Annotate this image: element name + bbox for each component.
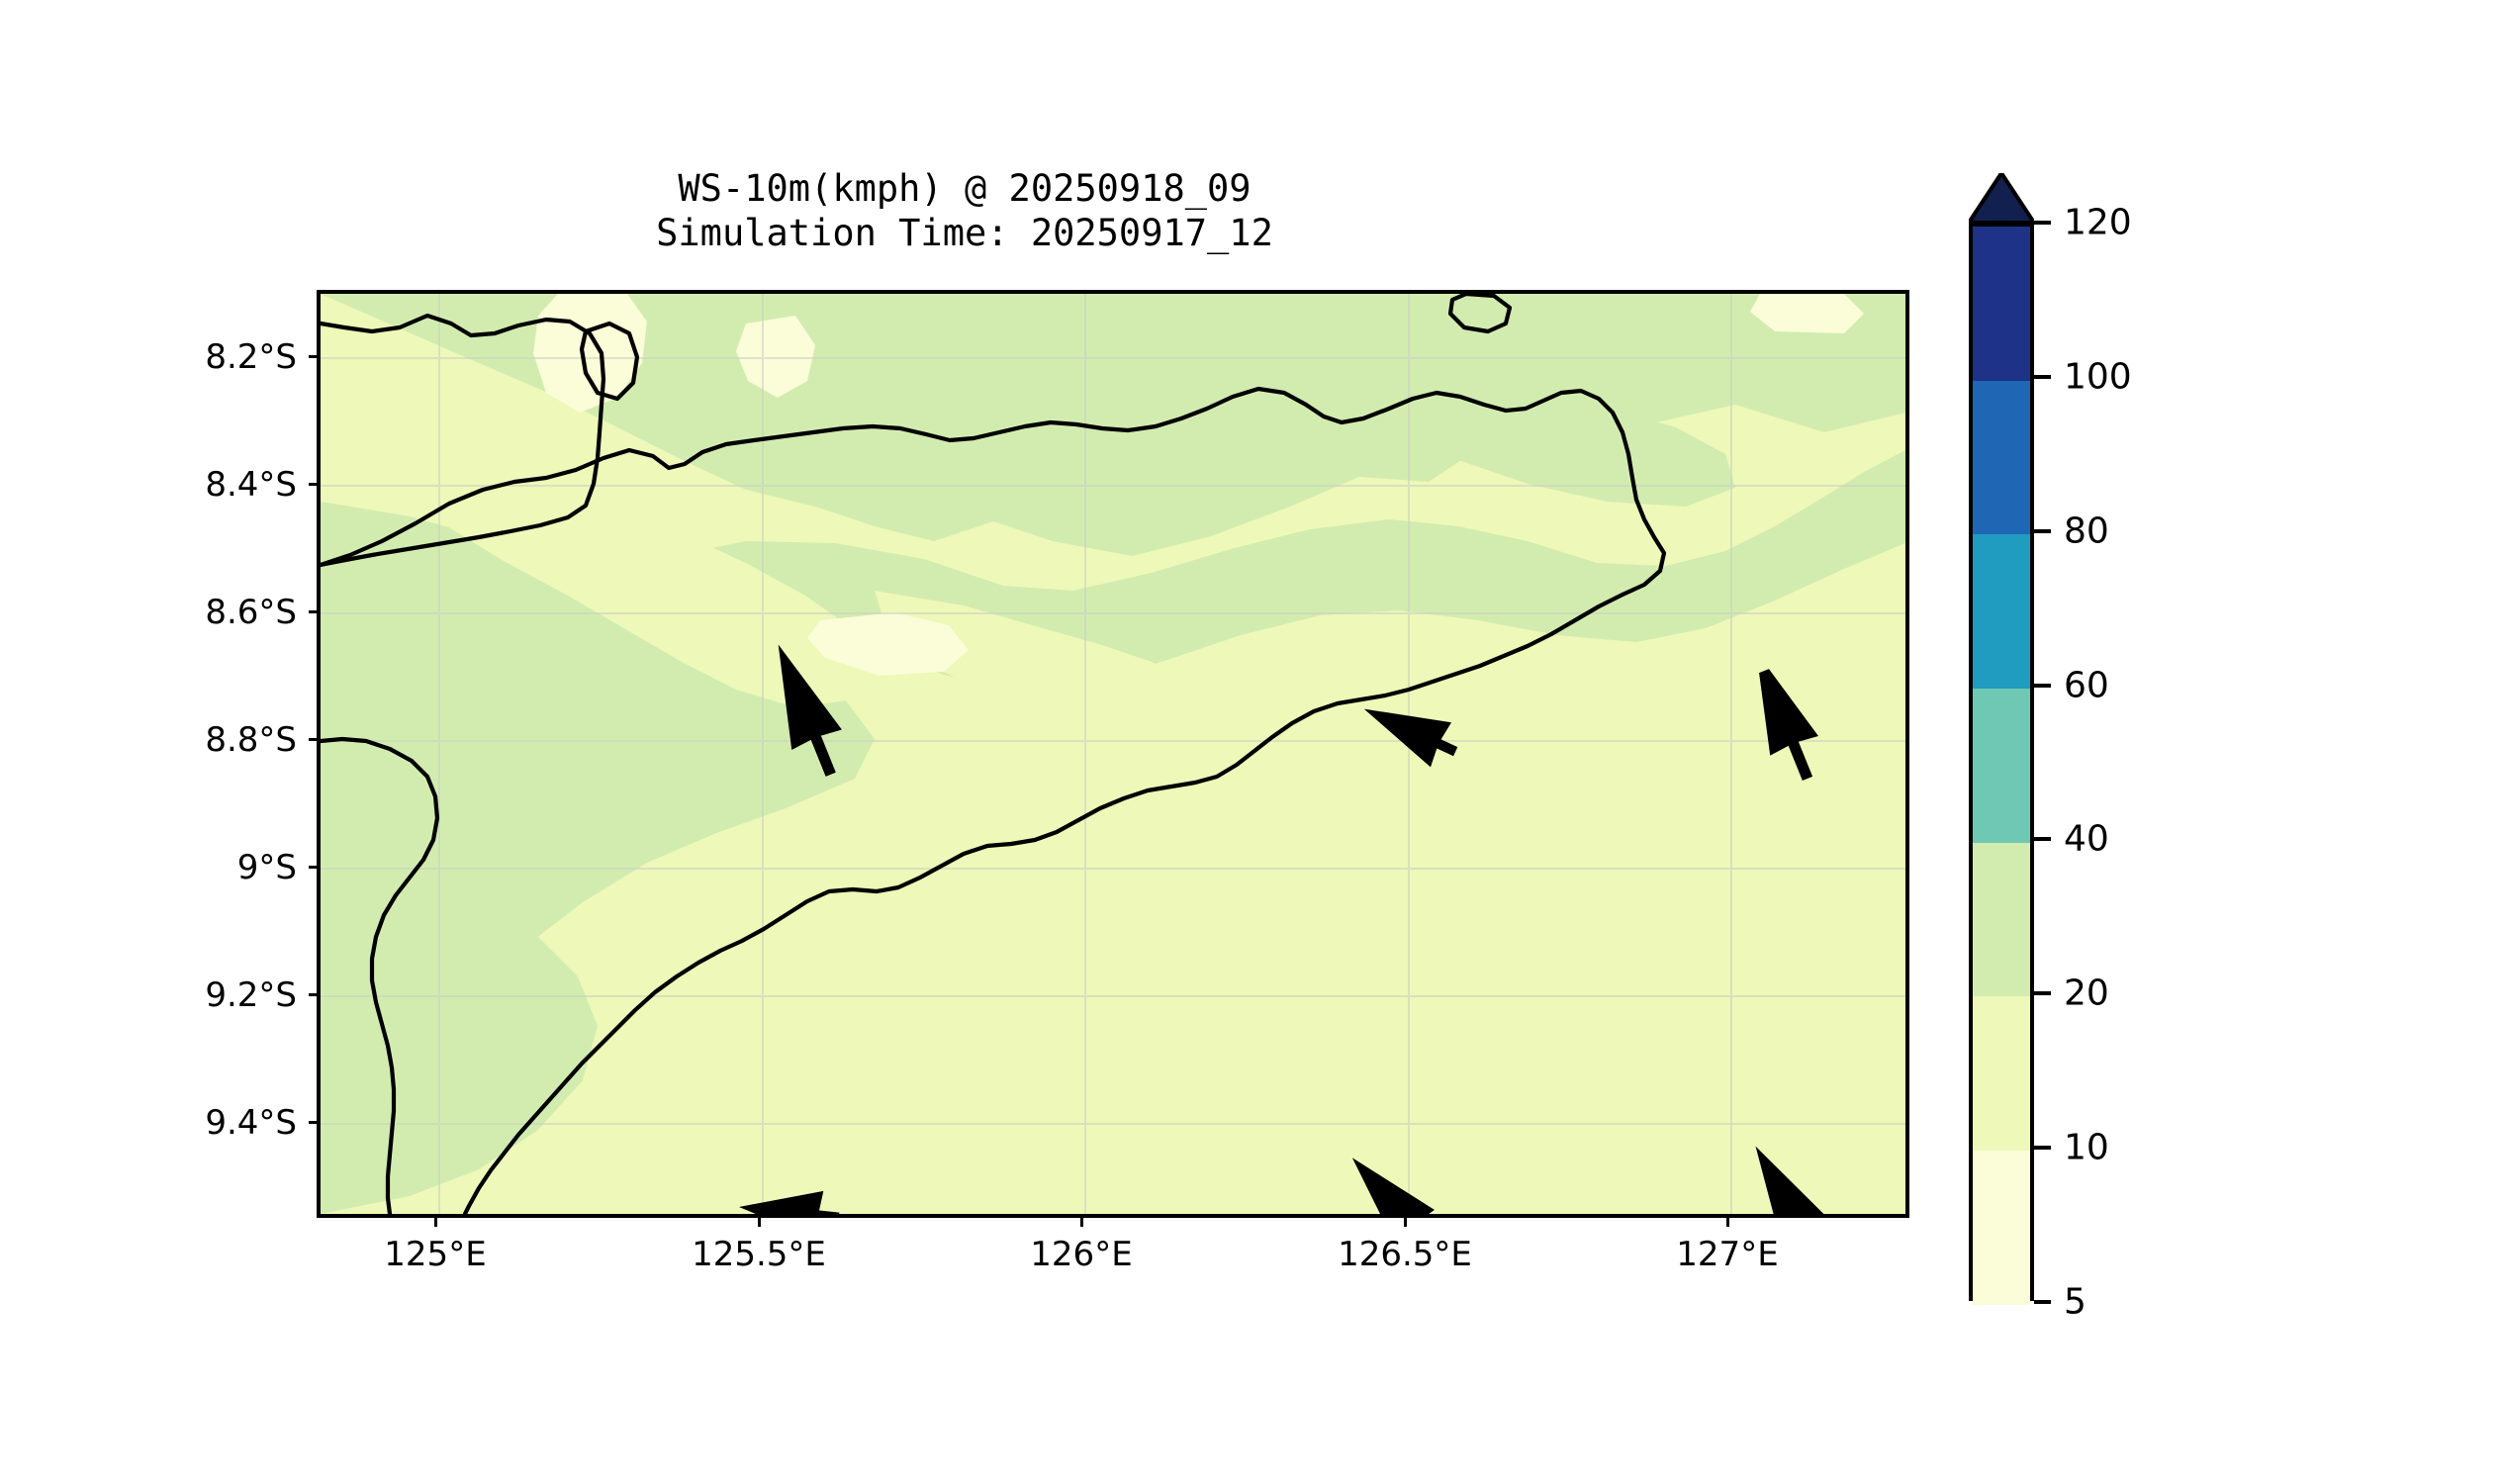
colorbar-tick — [2034, 1300, 2051, 1304]
ytick-mark — [309, 1121, 320, 1124]
wind-arrow — [1372, 700, 1462, 768]
wind-arrow — [768, 657, 849, 782]
colorbar-label-60: 60 — [2064, 666, 2109, 706]
colorbar-segment-40-60 — [1973, 689, 2030, 843]
xtick-mark — [1726, 1216, 1729, 1227]
colorbar-segment-10-20 — [1973, 996, 2030, 1151]
ytick-mark — [309, 610, 320, 613]
ytick-label: 8.6°S — [59, 593, 297, 632]
colorbar-tick — [2034, 1146, 2051, 1150]
ytick-label: 9.2°S — [59, 975, 297, 1015]
xtick-label: 126°E — [953, 1235, 1210, 1274]
wind-arrow — [1351, 1160, 1446, 1214]
xtick-label: 125.5°E — [630, 1235, 887, 1274]
xtick-mark — [1080, 1216, 1083, 1227]
colorbar-label-40: 40 — [2064, 819, 2109, 860]
ytick-label: 8.2°S — [59, 337, 297, 377]
xtick-mark — [758, 1216, 761, 1227]
colorbar-segment-20-40 — [1973, 843, 2030, 997]
colorbar-gradient — [1969, 223, 2034, 1301]
map-plot-area — [321, 294, 1905, 1214]
ytick-mark — [309, 355, 320, 358]
xtick-mark — [434, 1216, 437, 1227]
colorbar[interactable]: 120 100 80 60 40 20 10 5 — [1969, 173, 2266, 1336]
figure-canvas: WS-10m(kmph) @ 20250918_09 Simulation Ti… — [0, 0, 2504, 1484]
colorbar-label-80: 80 — [2064, 511, 2109, 552]
colorbar-label-5: 5 — [2064, 1282, 2087, 1323]
colorbar-segment-5-10 — [1973, 1151, 2030, 1305]
xtick-label: 127°E — [1599, 1235, 1856, 1274]
colorbar-label-20: 20 — [2064, 974, 2109, 1014]
colorbar-extend-arrow — [1969, 173, 2034, 223]
ytick-mark — [309, 866, 320, 869]
colorbar-tick — [2034, 221, 2051, 225]
ytick-mark — [309, 738, 320, 741]
colorbar-segment-60-80 — [1973, 534, 2030, 689]
ytick-label: 8.8°S — [59, 720, 297, 760]
colorbar-tick — [2034, 684, 2051, 688]
xtick-label: 126.5°E — [1276, 1235, 1533, 1274]
colorbar-tick — [2034, 991, 2051, 995]
title-line-2: Simulation Time: 20250917_12 — [317, 211, 1613, 255]
xtick-label: 125°E — [307, 1235, 564, 1274]
map-axes[interactable] — [317, 290, 1909, 1218]
ytick-mark — [309, 993, 320, 996]
ytick-label: 9°S — [59, 848, 297, 887]
wind-arrow — [1747, 665, 1825, 786]
chart-title: WS-10m(kmph) @ 20250918_09 Simulation Ti… — [317, 166, 1613, 255]
colorbar-tick — [2034, 837, 2051, 841]
colorbar-segment-100-120 — [1973, 227, 2030, 381]
colorbar-tick — [2034, 375, 2051, 379]
wind-vector-field — [321, 294, 1905, 1214]
colorbar-segment-80-100 — [1973, 381, 2030, 535]
ytick-mark — [309, 483, 320, 486]
ytick-label: 8.4°S — [59, 465, 297, 505]
wind-arrow — [754, 1191, 840, 1214]
title-line-1: WS-10m(kmph) @ 20250918_09 — [317, 166, 1613, 211]
ytick-label: 9.4°S — [59, 1103, 297, 1143]
colorbar-label-100: 100 — [2064, 357, 2132, 398]
colorbar-label-10: 10 — [2064, 1128, 2109, 1168]
wind-arrow — [1750, 1155, 1836, 1214]
xtick-mark — [1404, 1216, 1407, 1227]
colorbar-label-120: 120 — [2064, 203, 2132, 243]
colorbar-tick — [2034, 529, 2051, 533]
